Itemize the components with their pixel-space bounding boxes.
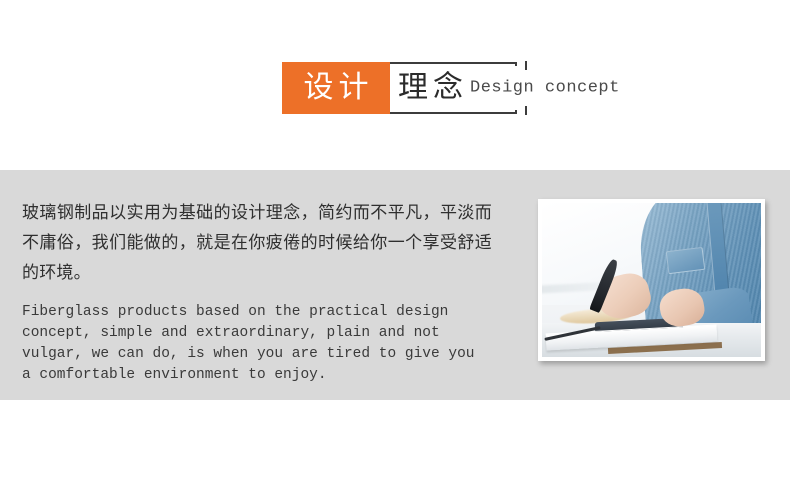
title-orange-block: 设计 — [282, 62, 390, 114]
title-border-tick-top — [525, 61, 527, 70]
photo-frame — [538, 199, 765, 361]
header-section: 设计 理念 Design concept — [0, 0, 790, 170]
paragraph-chinese: 玻璃钢制品以实用为基础的设计理念，简约而不平凡，平淡而不庸俗，我们能做的，就是在… — [22, 198, 492, 288]
photo-shirt-pocket — [666, 247, 706, 274]
content-band: 玻璃钢制品以实用为基础的设计理念，简约而不平凡，平淡而不庸俗，我们能做的，就是在… — [0, 170, 790, 400]
footer-whitespace — [0, 400, 790, 478]
photo-writing-person — [542, 203, 761, 357]
section-title: 设计 理念 Design concept — [282, 62, 517, 114]
paragraph-english: Fiberglass products based on the practic… — [22, 302, 477, 386]
title-cn-orange-text: 设计 — [299, 73, 374, 103]
title-cn-box-text: 理念 — [398, 73, 468, 103]
text-column: 玻璃钢制品以实用为基础的设计理念，简约而不平凡，平淡而不庸俗，我们能做的，就是在… — [22, 198, 492, 386]
title-border-tick-bottom — [525, 106, 527, 115]
title-en-text: Design concept — [470, 79, 620, 98]
